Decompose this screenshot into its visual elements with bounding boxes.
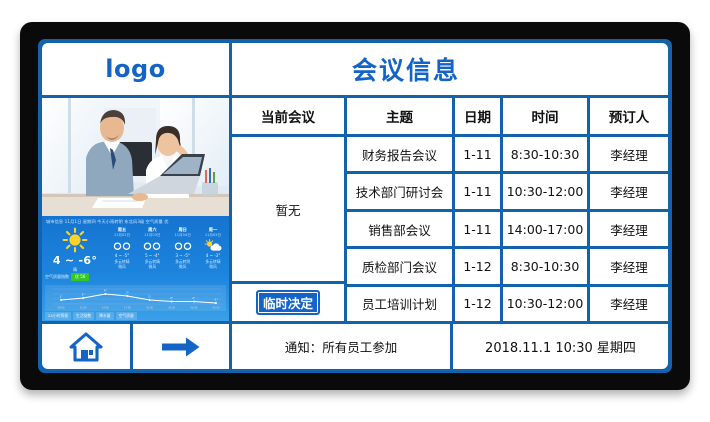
office-photo [42,98,229,216]
svg-text:05:00: 05:00 [212,307,219,310]
svg-text:0°: 0° [192,296,196,300]
weather-tab-air[interactable]: 空气质量 [116,312,137,320]
weather-tab-hourly[interactable]: 24小时预报 [45,312,71,320]
forecast-day: 周一 11月05日 [199,227,227,269]
next-button[interactable] [133,324,229,369]
forecast-day-wind: 微风 [169,264,197,269]
cloud-icon [169,238,197,253]
table-row[interactable]: 销售部会议 1-11 14:00-17:00 李经理 [347,212,668,246]
cell-date: 1-11 [455,212,500,246]
table-body: 暂无 临时决定 财务报告会议 1-11 8:30-10:30 李经理 技术部门 [232,137,668,321]
left-panel: 城市信息 11月1日 星期四 今天小雨转阴 东北风3级 空气质量 优 [42,98,229,321]
home-icon [69,332,103,362]
cell-date: 1-12 [455,287,500,321]
header-band: logo 会议信息 [42,43,668,95]
display-bezel: logo 会议信息 [20,22,690,390]
table-header-row: 当前会议 主题 日期 时间 预订人 [232,98,668,134]
cell-owner: 李经理 [590,249,668,283]
svg-text:1°: 1° [60,294,64,298]
temporary-decision-badge[interactable]: 临时决定 [256,290,320,315]
weather-tab-rain[interactable]: 降水量 [96,312,113,320]
weather-aqi: 空气质量指数 优 56 [45,273,105,281]
svg-text:11:00: 11:00 [80,307,87,310]
svg-text:3°: 3° [126,290,130,294]
cell-owner: 李经理 [590,137,668,171]
table-row[interactable]: 质检部门会议 1-12 8:30-10:30 李经理 [347,249,668,283]
home-button[interactable] [42,324,130,369]
forecast-day: 周五 11月02日 4 ~ -5° 多云转晴 微风 [108,227,136,269]
cell-time: 8:30-10:30 [503,249,587,283]
svg-text:08:00: 08:00 [58,307,65,310]
svg-text:14:00: 14:00 [102,307,109,310]
svg-text:0°: 0° [170,296,174,300]
cell-subject: 技术部门研讨会 [347,174,452,208]
cell-subject: 质检部门会议 [347,249,452,283]
cloud-icon [138,238,166,253]
screen-content: logo 会议信息 [42,43,668,369]
svg-text:20:00: 20:00 [146,307,153,310]
table-row[interactable]: 员工培训计划 1-12 10:30-12:00 李经理 [347,287,668,321]
column-header-subject: 主题 [347,98,452,134]
table-row[interactable]: 财务报告会议 1-11 8:30-10:30 李经理 [347,137,668,171]
forecast-day-wind: 微风 [108,264,136,269]
aqi-badge: 优 56 [71,273,89,281]
column-header-owner: 预订人 [590,98,668,134]
aqi-label: 空气质量指数 [45,274,69,280]
current-meeting-value: 暂无 [232,137,344,281]
page-title-cell: 会议信息 [232,43,668,95]
svg-text:-1°: -1° [214,297,219,301]
screen-frame: logo 会议信息 [38,39,672,373]
svg-text:23:00: 23:00 [168,307,175,310]
cell-time: 8:30-10:30 [503,137,587,171]
table-row[interactable]: 技术部门研讨会 1-11 10:30-12:00 李经理 [347,174,668,208]
cell-date: 1-11 [455,174,500,208]
footer-band: 通知：所有员工参加 2018.11.1 10:30 星期四 [42,324,668,369]
cell-time: 10:30-12:00 [503,174,587,208]
arrow-right-icon [162,337,200,357]
weather-temp-range: 4 ~ -6° [45,254,105,267]
weather-topline: 城市信息 11月1日 星期四 今天小雨转阴 东北风3级 空气质量 优 [46,219,225,225]
middle-band: 城市信息 11月1日 星期四 今天小雨转阴 东北风3级 空气质量 优 [42,98,668,321]
cell-subject: 员工培训计划 [347,287,452,321]
cloud-icon [108,238,136,253]
sun-cloud-icon [199,238,227,253]
forecast-day: 周六 11月03日 5 ~ -4° 多云转晴 微风 [138,227,166,269]
forecast-day-wind: 微风 [199,264,227,269]
cell-subject: 销售部会议 [347,212,452,246]
logo-text: logo [105,55,165,83]
column-header-current: 当前会议 [232,98,344,134]
forecast-day-wind: 微风 [138,264,166,269]
forecast-day: 周日 11月04日 3 ~ -5° 多云转阴 微风 [169,227,197,269]
datetime-text: 2018.11.1 10:30 星期四 [453,324,668,369]
cell-owner: 李经理 [590,174,668,208]
cell-date: 1-11 [455,137,500,171]
svg-text:2°: 2° [82,292,86,296]
weather-forecast-list: 周五 11月02日 4 ~ -5° 多云转晴 微风 [108,227,227,269]
meeting-table: 当前会议 主题 日期 时间 预订人 暂无 临时决定 财务报告会议 [232,98,668,321]
cell-owner: 李经理 [590,287,668,321]
hourly-temperature-chart: 1° 2° 4° 3° 1° 0° 0° -1° 08:00 11:00 [45,285,226,311]
cell-time: 10:30-12:00 [503,287,587,321]
svg-text:1°: 1° [148,294,152,298]
sun-icon [62,227,88,253]
column-header-date: 日期 [455,98,500,134]
svg-text:17:00: 17:00 [124,307,131,310]
column-header-time: 时间 [503,98,587,134]
cell-date: 1-12 [455,249,500,283]
temporary-decision-cell[interactable]: 临时决定 [232,284,344,321]
svg-text:02:00: 02:00 [190,307,197,310]
meeting-rows: 财务报告会议 1-11 8:30-10:30 李经理 技术部门研讨会 1-11 … [347,137,668,321]
page-title: 会议信息 [352,51,460,87]
logo-cell[interactable]: logo [42,43,229,95]
weather-today: 4 ~ -6° 晴 湿度 [45,227,105,279]
weather-tab-life[interactable]: 生活指数 [73,312,94,320]
weather-chart-tabs[interactable]: 24小时预报 生活指数 降水量 空气质量 [45,312,137,320]
cell-subject: 财务报告会议 [347,137,452,171]
cell-owner: 李经理 [590,212,668,246]
notice-text: 通知：所有员工参加 [232,324,450,369]
current-meeting-column: 暂无 临时决定 [232,137,344,321]
cell-time: 14:00-17:00 [503,212,587,246]
weather-widget[interactable]: 城市信息 11月1日 星期四 今天小雨转阴 东北风3级 空气质量 优 [42,216,229,321]
